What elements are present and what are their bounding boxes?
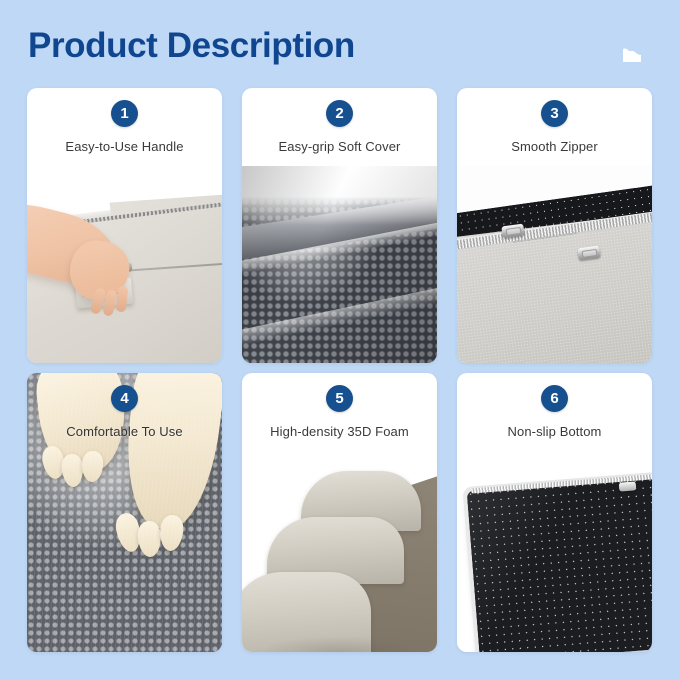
feature-card-5[interactable]: 5 High-density 35D Foam — [242, 373, 437, 652]
card-2-header: 2 Easy-grip Soft Cover — [242, 88, 437, 166]
feature-card-3[interactable]: 3 Smooth Zipper — [457, 88, 652, 363]
feature-card-grid: 1 Easy-to-Use Handle 2 E — [27, 88, 652, 652]
feature-card-4[interactable]: 4 Comfortable To Use — [27, 373, 222, 652]
card-3-image — [457, 166, 652, 363]
card-5-image — [242, 451, 437, 652]
card-4-label: Comfortable To Use — [66, 424, 182, 439]
card-3-header: 3 Smooth Zipper — [457, 88, 652, 166]
card-5-label: High-density 35D Foam — [270, 424, 409, 439]
feature-card-1[interactable]: 1 Easy-to-Use Handle — [27, 88, 222, 363]
card-5-header: 5 High-density 35D Foam — [242, 373, 437, 451]
card-1-label: Easy-to-Use Handle — [65, 139, 183, 154]
card-3-label: Smooth Zipper — [511, 139, 598, 154]
card-3-badge: 3 — [541, 100, 568, 127]
card-6-label: Non-slip Bottom — [508, 424, 602, 439]
card-2-label: Easy-grip Soft Cover — [279, 139, 401, 154]
card-4-badge: 4 — [111, 385, 138, 412]
feature-card-2[interactable]: 2 Easy-grip Soft Cover — [242, 88, 437, 363]
feature-card-6[interactable]: 6 Non-slip Bottom — [457, 373, 652, 652]
card-4-header: 4 Comfortable To Use — [27, 373, 222, 451]
card-1-header: 1 Easy-to-Use Handle — [27, 88, 222, 166]
card-1-badge: 1 — [111, 100, 138, 127]
cloud-mark-icon — [619, 40, 645, 64]
card-6-header: 6 Non-slip Bottom — [457, 373, 652, 451]
page-title: Product Description — [28, 25, 355, 67]
product-description-infographic: Product Description 1 Easy-to-Use Handle — [0, 0, 679, 679]
card-2-image — [242, 166, 437, 363]
card-2-badge: 2 — [326, 100, 353, 127]
card-6-badge: 6 — [541, 385, 568, 412]
card-1-image — [27, 166, 222, 363]
header: Product Description — [0, 0, 679, 88]
card-6-image — [457, 451, 652, 652]
card-5-badge: 5 — [326, 385, 353, 412]
